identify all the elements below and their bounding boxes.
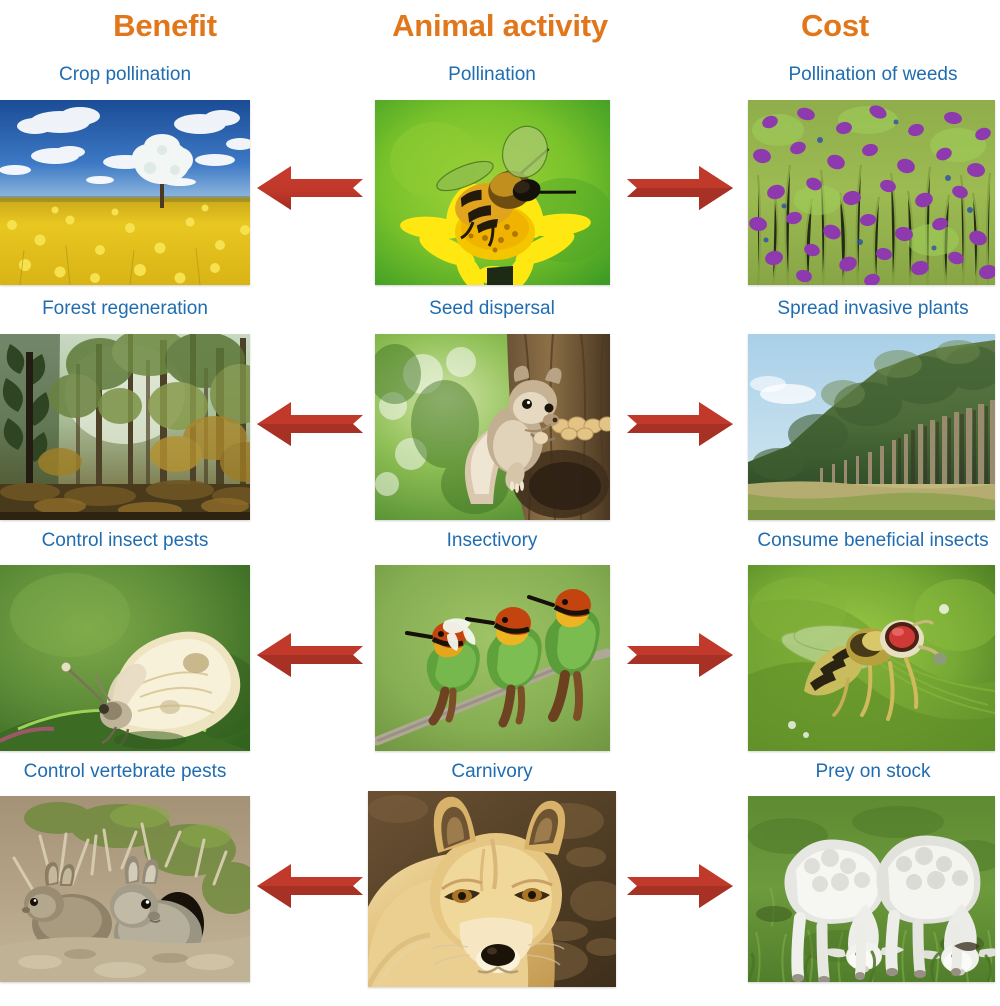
row-3-left-arrow-icon [255, 627, 365, 683]
row-1-right-arrow-icon [625, 160, 735, 216]
row-4-activity-image [368, 791, 616, 987]
row-3-activity-label: Insectivory [372, 530, 612, 552]
row-1-benefit-image [0, 100, 250, 285]
column-header-cost: Cost [670, 8, 1000, 44]
row-1-cost-image [748, 100, 995, 285]
row-1-activity-label: Pollination [372, 64, 612, 86]
row-4-activity-label: Carnivory [372, 761, 612, 783]
row-4-left-arrow-icon [255, 858, 365, 914]
column-header-benefit: Benefit [0, 8, 330, 44]
row-3-cost-label: Consume beneficial insects [746, 530, 1000, 552]
row-3-cost-image [748, 565, 995, 751]
row-2-activity-label: Seed dispersal [372, 298, 612, 320]
row-2-left-arrow-icon [255, 396, 365, 452]
row-1-left-arrow-icon [255, 160, 365, 216]
row-3-benefit-label: Control insect pests [0, 530, 250, 552]
row-4-right-arrow-icon [625, 858, 735, 914]
row-1-activity-image [375, 100, 610, 285]
column-header-animal-activity: Animal activity [330, 8, 670, 44]
row-3-right-arrow-icon [625, 627, 735, 683]
row-2-benefit-image [0, 334, 250, 520]
row-2-activity-image [375, 334, 610, 520]
row-4-cost-image [748, 796, 995, 982]
row-2-cost-image [748, 334, 995, 520]
row-1-cost-label: Pollination of weeds [746, 64, 1000, 86]
row-4-cost-label: Prey on stock [746, 761, 1000, 783]
row-3-benefit-image [0, 565, 250, 751]
row-4-benefit-image [0, 796, 250, 982]
diagram-canvas: Benefit Animal activity Cost Crop pollin… [0, 0, 1000, 1006]
row-1-benefit-label: Crop pollination [0, 64, 250, 86]
row-3-activity-image [375, 565, 610, 751]
row-2-right-arrow-icon [625, 396, 735, 452]
row-2-benefit-label: Forest regeneration [0, 298, 250, 320]
row-4-benefit-label: Control vertebrate pests [0, 761, 250, 783]
row-2-cost-label: Spread invasive plants [746, 298, 1000, 320]
